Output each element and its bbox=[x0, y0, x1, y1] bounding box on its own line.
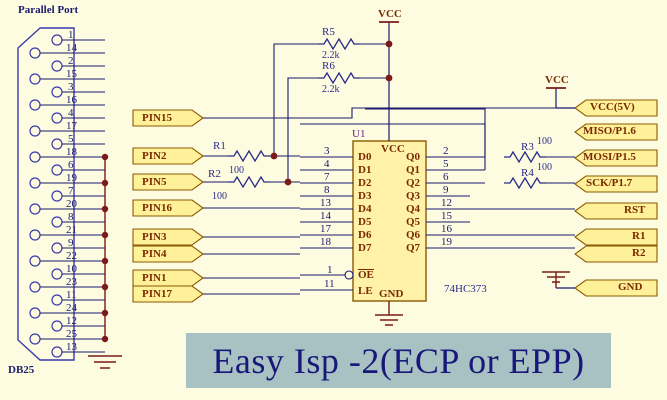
port-pin5[interactable]: PIN5 bbox=[142, 176, 166, 188]
port-sck[interactable]: SCK/P1.7 bbox=[586, 177, 632, 189]
db25-pin-17: 17 bbox=[66, 120, 77, 132]
ic-output-q5: Q5 bbox=[406, 216, 420, 228]
ic-input-d6: D6 bbox=[358, 229, 371, 241]
port-pin2[interactable]: PIN2 bbox=[142, 150, 166, 162]
db25-pin-14: 14 bbox=[66, 42, 77, 54]
db25-pin-16: 16 bbox=[66, 94, 77, 106]
ic-output-q3: Q3 bbox=[406, 190, 420, 202]
port-vcc5v[interactable]: VCC(5V) bbox=[590, 101, 635, 113]
r5-refdes: R5 bbox=[322, 26, 335, 38]
r2-value: 100 bbox=[212, 191, 227, 202]
ic-gnd-label: GND bbox=[379, 288, 403, 300]
db25-pin-6: 6 bbox=[68, 159, 74, 171]
db25-pin-3: 3 bbox=[68, 81, 74, 93]
ic-input-pin-13: 13 bbox=[320, 197, 331, 209]
db25-pin-13: 13 bbox=[66, 341, 77, 353]
port-r2[interactable]: R2 bbox=[632, 247, 645, 259]
r3-refdes: R3 bbox=[521, 141, 534, 153]
ic-input-pin-8: 8 bbox=[324, 184, 330, 196]
ic-output-q4: Q4 bbox=[406, 203, 420, 215]
ic-output-q6: Q6 bbox=[406, 229, 420, 241]
port-pin16[interactable]: PIN16 bbox=[142, 202, 172, 214]
db25-pin-1: 1 bbox=[68, 29, 74, 41]
ic-control-oe: OE bbox=[358, 269, 374, 282]
ic-output-q1: Q1 bbox=[406, 164, 420, 176]
ic-input-d0: D0 bbox=[358, 151, 371, 163]
port-pin4[interactable]: PIN4 bbox=[142, 248, 166, 260]
port-pin15[interactable]: PIN15 bbox=[142, 112, 172, 124]
port-pin17[interactable]: PIN17 bbox=[142, 288, 172, 300]
r4-value: 100 bbox=[537, 162, 552, 173]
ic-part-name: 74HC373 bbox=[444, 283, 487, 295]
db25-pin-21: 21 bbox=[66, 224, 77, 236]
db25-pin-4: 4 bbox=[68, 107, 74, 119]
db25-pin-5: 5 bbox=[68, 133, 74, 145]
port-pin1[interactable]: PIN1 bbox=[142, 272, 166, 284]
db25-pin-19: 19 bbox=[66, 172, 77, 184]
ic-input-d4: D4 bbox=[358, 203, 371, 215]
r1-refdes: R1 bbox=[213, 140, 226, 152]
db25-pin-8: 8 bbox=[68, 211, 74, 223]
ic-output-pin-16: 16 bbox=[441, 223, 452, 235]
db25-pin-9: 9 bbox=[68, 237, 74, 249]
ic-input-d1: D1 bbox=[358, 164, 371, 176]
ic-control-pin-11: 11 bbox=[324, 278, 335, 290]
ic-output-pin-2: 2 bbox=[443, 145, 449, 157]
ic-refdes: U1 bbox=[352, 128, 365, 140]
r4-refdes: R4 bbox=[521, 167, 534, 179]
ic-output-pin-9: 9 bbox=[443, 184, 449, 196]
db25-pin-20: 20 bbox=[66, 198, 77, 210]
port-r1[interactable]: R1 bbox=[632, 230, 645, 242]
ic-input-pin-17: 17 bbox=[320, 223, 331, 235]
title-text: Easy Isp -2(ECP or EPP) bbox=[186, 333, 611, 388]
connector-footer: DB25 bbox=[8, 364, 34, 376]
db25-pin-15: 15 bbox=[66, 68, 77, 80]
ic-input-pin-18: 18 bbox=[320, 236, 331, 248]
db25-pin-18: 18 bbox=[66, 146, 77, 158]
ic-vcc-label: VCC bbox=[381, 143, 405, 155]
ic-input-pin-3: 3 bbox=[324, 145, 330, 157]
ic-output-pin-19: 19 bbox=[441, 236, 452, 248]
db25-pin-10: 10 bbox=[66, 263, 77, 275]
vcc-label-top: VCC bbox=[378, 8, 402, 20]
ic-output-pin-6: 6 bbox=[443, 171, 449, 183]
db25-pin-22: 22 bbox=[66, 250, 77, 262]
port-rst[interactable]: RST bbox=[624, 204, 645, 216]
ic-input-d3: D3 bbox=[358, 190, 371, 202]
vcc-label-right: VCC bbox=[545, 74, 569, 86]
oe-inversion-bubble bbox=[345, 271, 353, 279]
db25-pin-12: 12 bbox=[66, 315, 77, 327]
ic-output-pin-12: 12 bbox=[441, 197, 452, 209]
db25-pin-25: 25 bbox=[66, 328, 77, 340]
ic-output-q0: Q0 bbox=[406, 151, 420, 163]
connector-header: Parallel Port bbox=[18, 4, 78, 16]
ic-control-pin-1: 1 bbox=[327, 264, 333, 276]
ic-input-pin-4: 4 bbox=[324, 158, 330, 170]
db25-pin-7: 7 bbox=[68, 185, 74, 197]
r6-value: 2.2k bbox=[322, 84, 340, 95]
ic-input-d2: D2 bbox=[358, 177, 371, 189]
ic-output-pin-15: 15 bbox=[441, 210, 452, 222]
db25-pin-24: 24 bbox=[66, 302, 77, 314]
ic-output-q2: Q2 bbox=[406, 177, 420, 189]
ic-input-pin-7: 7 bbox=[324, 171, 330, 183]
ic-control-le: LE bbox=[358, 285, 373, 297]
ic-output-q7: Q7 bbox=[406, 242, 420, 254]
r6-refdes: R6 bbox=[322, 60, 335, 72]
ic-input-d5: D5 bbox=[358, 216, 371, 228]
port-gnd[interactable]: GND bbox=[618, 281, 642, 293]
db25-pin-11: 11 bbox=[66, 289, 77, 301]
port-mosi[interactable]: MOSI/P1.5 bbox=[583, 151, 636, 163]
ic-output-pin-5: 5 bbox=[443, 158, 449, 170]
db25-pin-23: 23 bbox=[66, 276, 77, 288]
r1-value: 100 bbox=[229, 165, 244, 176]
port-miso[interactable]: MISO/P1.6 bbox=[583, 125, 636, 137]
r3-value: 100 bbox=[537, 136, 552, 147]
port-pin3[interactable]: PIN3 bbox=[142, 231, 166, 243]
ic-input-d7: D7 bbox=[358, 242, 371, 254]
ic-input-pin-14: 14 bbox=[320, 210, 331, 222]
r2-refdes: R2 bbox=[208, 168, 221, 180]
db25-pin-2: 2 bbox=[68, 55, 74, 67]
